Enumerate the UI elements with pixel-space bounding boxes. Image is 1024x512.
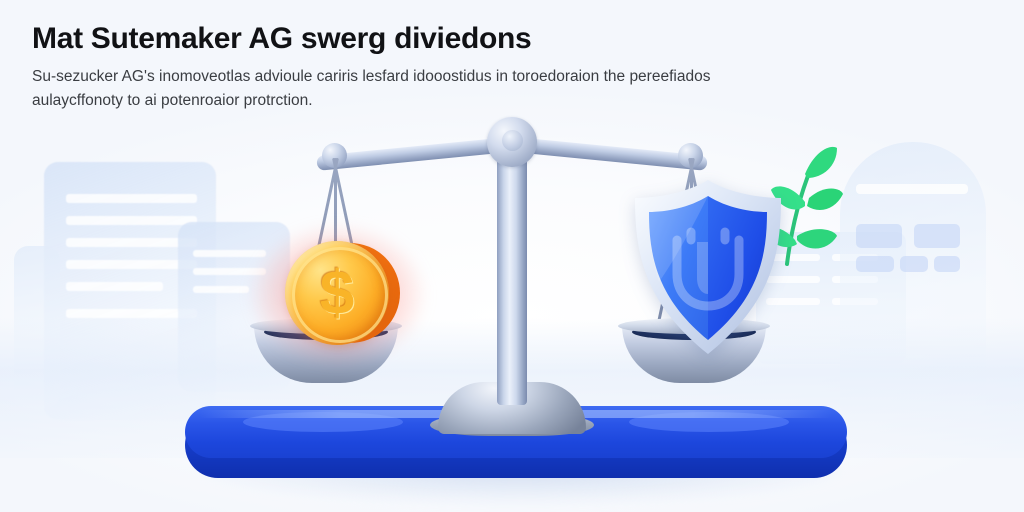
scale-pivot [487,117,537,167]
subtitle-line-1: Su-sezucker AG's inomoveotlas advioule c… [32,68,710,85]
scale-pillar [497,150,527,405]
shield-group [613,168,803,368]
illustration-canvas: Mat Sutemaker AG swerg diviedons Su-sezu… [0,0,1024,512]
page-subtitle: Su-sezucker AG's inomoveotlas advioule c… [32,65,932,113]
blue-shield-icon [629,178,787,356]
page-title: Mat Sutemaker AG swerg diviedons [32,22,932,56]
header-block: Mat Sutemaker AG swerg diviedons Su-sezu… [32,22,932,113]
dollar-sign-icon: $ [285,241,389,345]
subtitle-line-2: aulaycffonoty to ai potenroaior protrcti… [32,89,932,113]
